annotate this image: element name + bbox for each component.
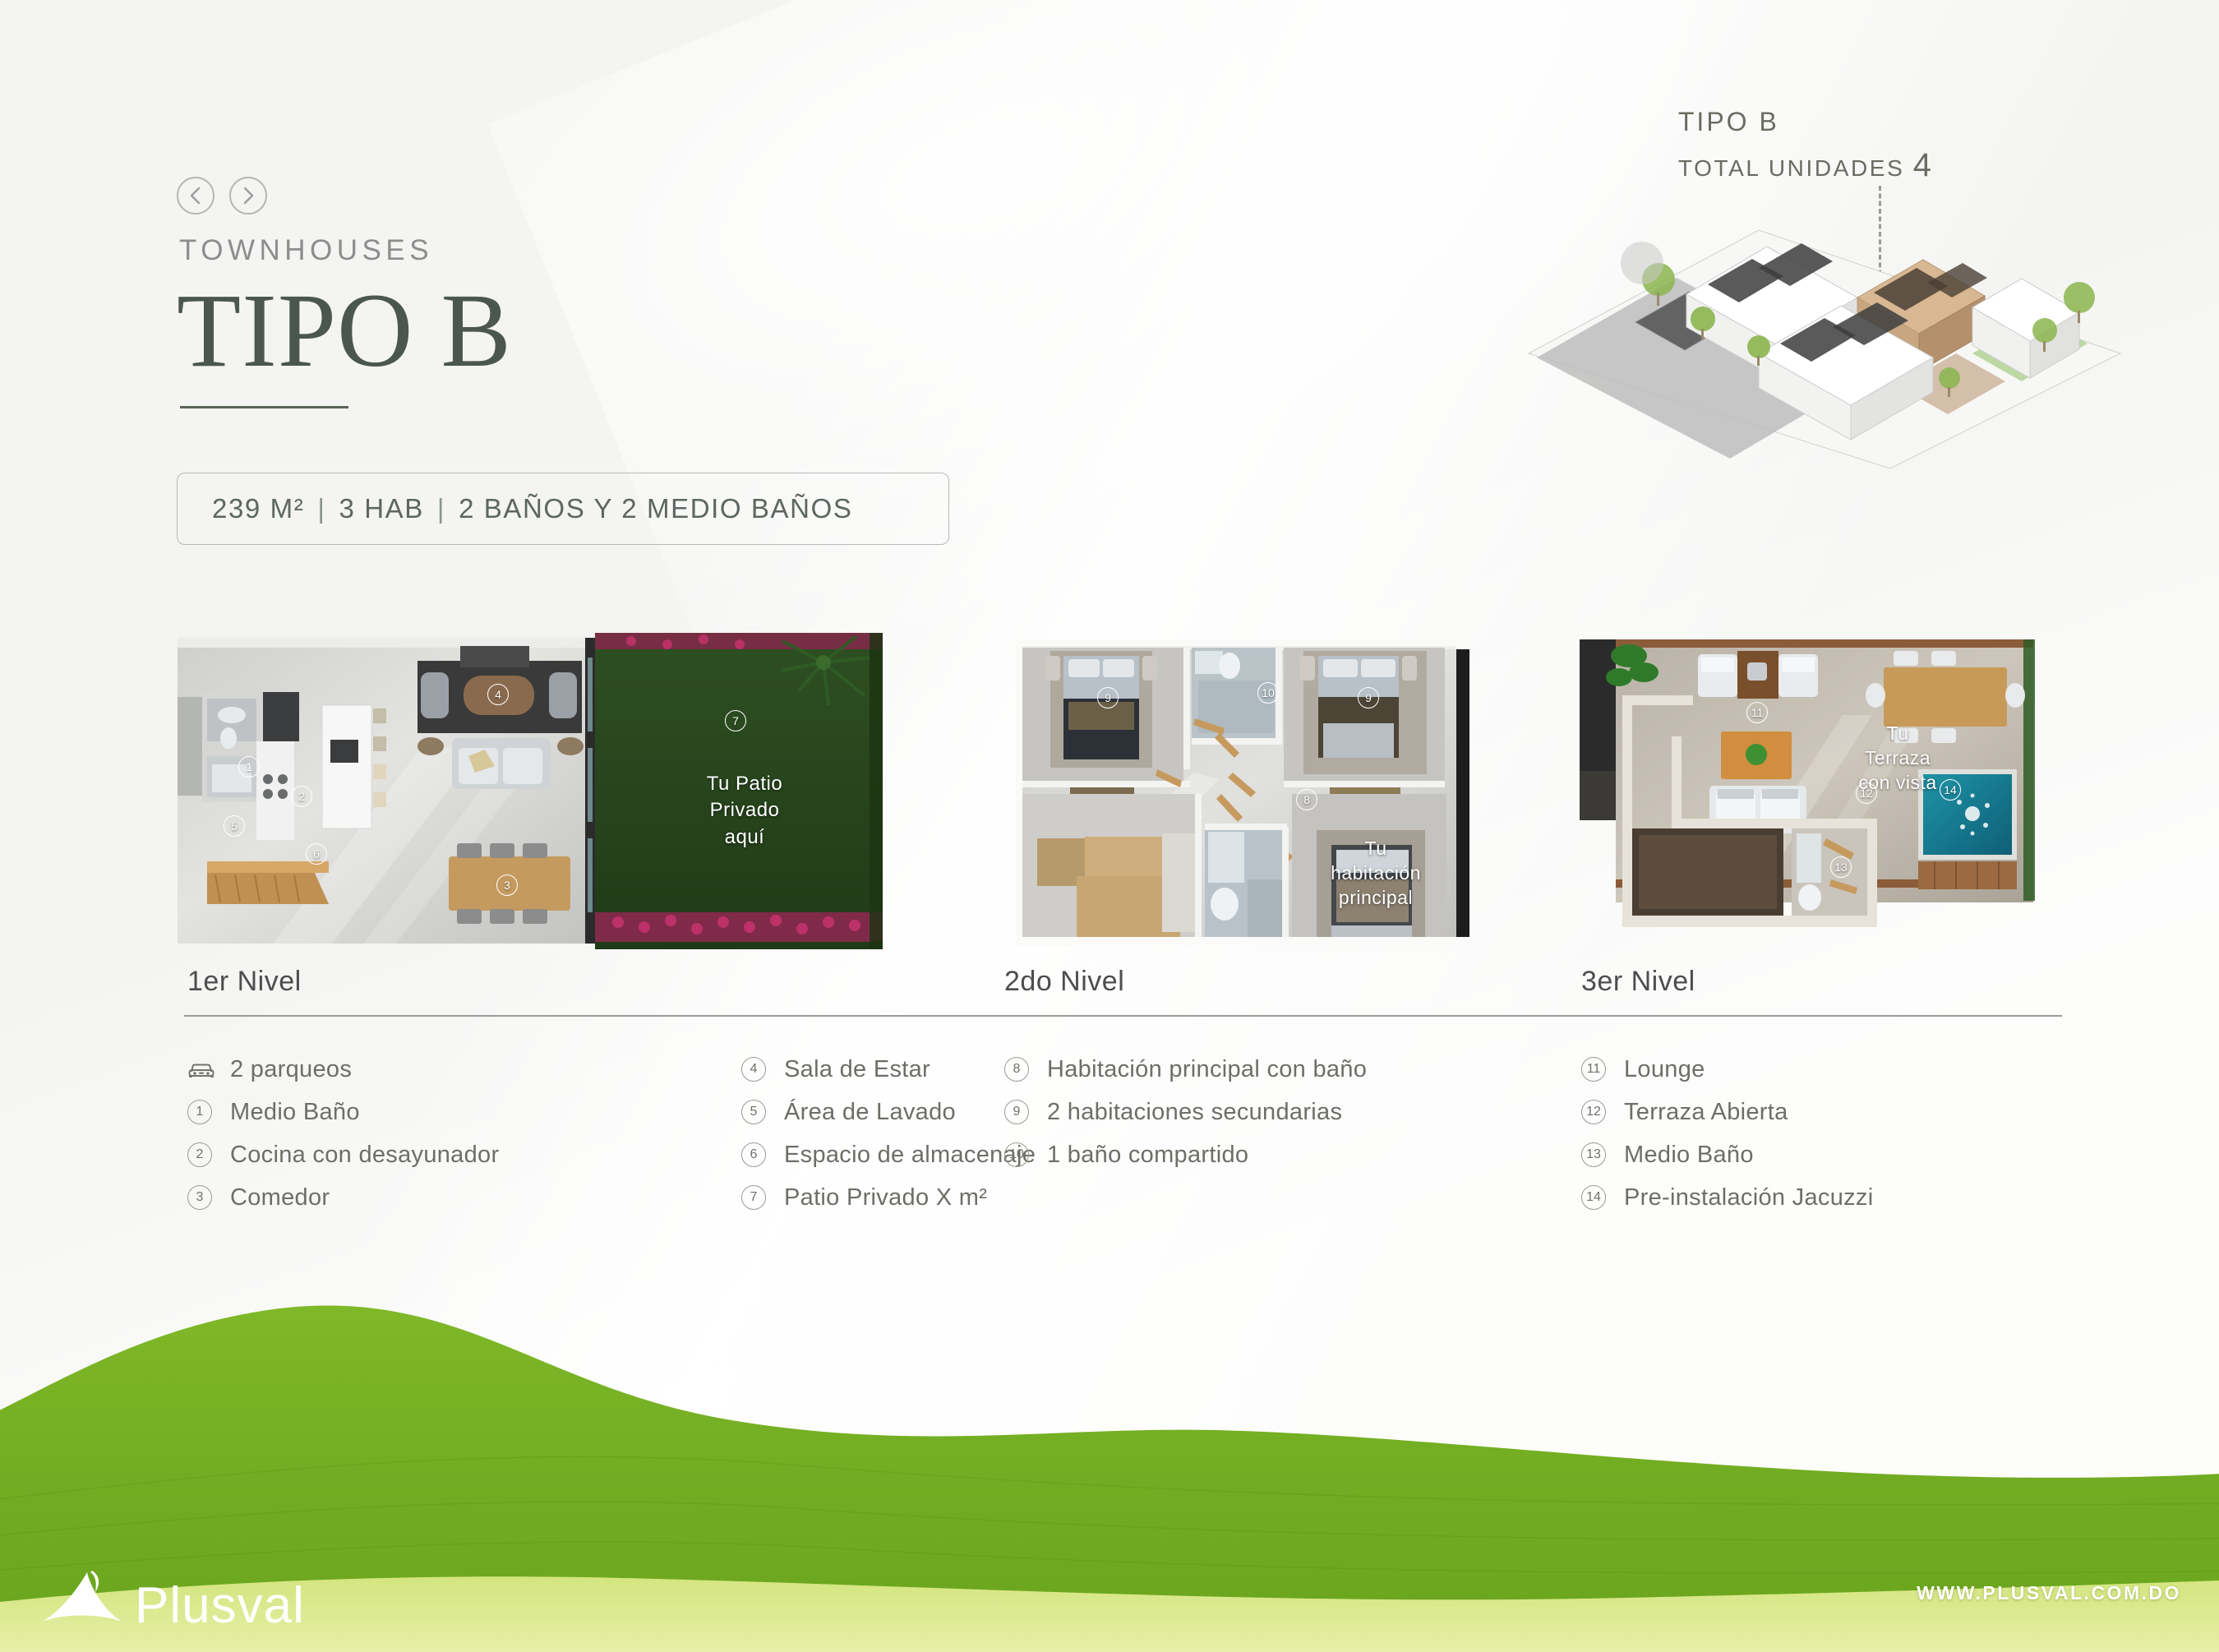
chevron-right-icon <box>240 186 256 205</box>
level-3-heading: 3er Nivel <box>1581 966 1695 998</box>
legend-number-badge: 5 <box>741 1100 766 1124</box>
spec-separator-1: | <box>304 493 339 524</box>
legend-item-text: Área de Lavado <box>784 1099 956 1126</box>
plan-3-marker-12: 12 <box>1856 782 1877 804</box>
list-item: 3 Comedor <box>187 1176 574 1219</box>
plan-1-marker-1: 1 <box>238 756 260 778</box>
legend-column-level3: 11 Lounge 12 Terraza Abierta 13 Medio Ba… <box>1581 1048 2009 1219</box>
list-item: 7 Patio Privado X m² <box>741 1176 1128 1219</box>
legend-number-badge: 13 <box>1581 1142 1606 1167</box>
legend-item-text: Patio Privado X m² <box>784 1184 987 1211</box>
page-title: TIPO B <box>177 277 512 385</box>
mountain-logo-icon <box>39 1567 128 1631</box>
building-massing-render: TIPO B TOTAL UNIDADES 4 <box>1512 107 2137 468</box>
plan-2-marker-8: 8 <box>1296 789 1317 810</box>
legend-item-text: Espacio de almacenaje <box>784 1142 1036 1169</box>
next-button[interactable] <box>229 177 267 215</box>
plan-2-marker-9a: 9 <box>1097 687 1119 708</box>
plan-1-marker-5: 5 <box>224 815 245 837</box>
carousel-nav <box>177 177 512 215</box>
plan-1-overlay-label: Tu PatioPrivadoaquí <box>671 771 819 851</box>
legend-number-badge: 12 <box>1581 1100 1606 1124</box>
legend-item-text: Cocina con desayunador <box>230 1142 499 1169</box>
spec-area: 239 M² <box>212 493 304 524</box>
legend-number-badge: 11 <box>1581 1057 1606 1082</box>
floor-plans-row: Tu PatioPrivadoaquí 1 2 3 4 5 6 7 <box>174 633 2056 949</box>
legend-item-text: 2 habitaciones secundarias <box>1047 1099 1342 1126</box>
plan-1-marker-4: 4 <box>487 684 509 705</box>
legend-item-text: 1 baño compartido <box>1047 1142 1248 1169</box>
legend-number-badge: 1 <box>187 1100 212 1124</box>
floor-plan-1[interactable]: Tu PatioPrivadoaquí 1 2 3 4 5 6 7 <box>174 633 883 949</box>
list-item: 13 Medio Baño <box>1581 1133 2009 1176</box>
chevron-left-icon <box>187 186 204 205</box>
floor-plan-1-canvas: Tu PatioPrivadoaquí 1 2 3 4 5 6 7 <box>174 633 883 949</box>
list-item: 14 Pre-instalación Jacuzzi <box>1581 1176 2009 1219</box>
list-item: 1 Medio Baño <box>187 1091 574 1133</box>
plan-1-marker-2: 2 <box>291 786 312 807</box>
footer-logo-wordmark: Plusval <box>135 1582 305 1631</box>
floor-plan-2[interactable]: Tuhabitaciónprincipal 9 10 9 8 <box>1004 633 1502 949</box>
legend-item-text: Pre-instalación Jacuzzi <box>1624 1184 1873 1211</box>
legend-item-text: Medio Baño <box>1624 1142 1754 1169</box>
spec-bedrooms: 3 HAB <box>339 493 424 524</box>
list-item: 10 1 baño compartido <box>1004 1133 1432 1176</box>
prev-button[interactable] <box>177 177 215 215</box>
plan-1-marker-3: 3 <box>496 874 518 896</box>
legend-number-badge: 6 <box>741 1142 766 1167</box>
floor-plan-3-canvas: TuTerrazacon vista 11 12 13 14 <box>1580 633 2060 949</box>
legend-item-text: Habitación principal con baño <box>1047 1056 1367 1083</box>
legend-number-badge: 14 <box>1581 1185 1606 1210</box>
unit-spec-bar: 239 M² | 3 HAB | 2 BAÑOS Y 2 MEDIO BAÑOS <box>177 473 949 545</box>
legend-number-badge: 7 <box>741 1185 766 1210</box>
hill-svg <box>0 1266 2219 1652</box>
page-header: TOWNHOUSES TIPO B <box>177 177 512 408</box>
legend-number-badge: 4 <box>741 1057 766 1082</box>
plan-2-marker-10: 10 <box>1257 682 1279 704</box>
list-item: 12 Terraza Abierta <box>1581 1091 2009 1133</box>
floor-plan-2-canvas: Tuhabitaciónprincipal 9 10 9 8 <box>1004 633 1502 949</box>
spec-separator-2: | <box>424 493 459 524</box>
car-icon <box>187 1060 215 1078</box>
plan-2-overlay-label: Tuhabitaciónprincipal <box>1315 837 1437 911</box>
list-item: 11 Lounge <box>1581 1048 2009 1091</box>
legend-number-badge: 2 <box>187 1142 212 1167</box>
title-underline-rule <box>180 406 348 408</box>
list-item: 2 Cocina con desayunador <box>187 1133 574 1176</box>
plan-1-marker-7: 7 <box>725 710 746 731</box>
level-1-heading: 1er Nivel <box>187 966 302 998</box>
level-2-heading: 2do Nivel <box>1004 966 1124 998</box>
plan-3-marker-13: 13 <box>1830 856 1852 878</box>
category-eyebrow: TOWNHOUSES <box>179 234 512 267</box>
legend-item-text: 2 parqueos <box>230 1056 352 1083</box>
legend-item-text: Sala de Estar <box>784 1056 930 1083</box>
legend-number-badge: 9 <box>1004 1100 1029 1124</box>
floor-plan-3[interactable]: TuTerrazacon vista 11 12 13 14 <box>1580 633 2060 949</box>
legend-item-text: Lounge <box>1624 1056 1705 1083</box>
legend-number-badge: 3 <box>187 1185 212 1210</box>
plan-3-marker-14: 14 <box>1940 779 1961 801</box>
legend-column-level1-a: 2 parqueos 1 Medio Baño 2 Cocina con des… <box>187 1048 574 1219</box>
footer-logo[interactable]: Plusval <box>39 1567 305 1631</box>
legend-item-text: Medio Baño <box>230 1099 360 1126</box>
legend-item-text: Comedor <box>230 1184 330 1211</box>
massing-isometric-svg <box>1512 107 2137 468</box>
legend-number-badge: 8 <box>1004 1057 1029 1082</box>
footer-url: WWW.PLUSVAL.COM.DO <box>1917 1582 2181 1604</box>
floor-plan-3-art <box>1580 633 2060 949</box>
list-item: 9 2 habitaciones secundarias <box>1004 1091 1432 1133</box>
legend-column-level2: 8 Habitación principal con baño 9 2 habi… <box>1004 1048 1432 1176</box>
legend-item-text: Terraza Abierta <box>1624 1099 1788 1126</box>
plan-2-marker-9b: 9 <box>1358 687 1379 708</box>
plan-1-marker-6: 6 <box>306 843 327 865</box>
footer-hill-graphic: Plusval WWW.PLUSVAL.COM.DO <box>0 1241 2219 1652</box>
legend-number-badge: 10 <box>1004 1142 1029 1167</box>
list-item: 8 Habitación principal con baño <box>1004 1048 1432 1091</box>
levels-divider-rule <box>184 1015 2062 1017</box>
plan-3-marker-11: 11 <box>1746 702 1768 723</box>
list-item: 2 parqueos <box>187 1048 574 1091</box>
spec-bathrooms: 2 BAÑOS Y 2 MEDIO BAÑOS <box>459 493 852 524</box>
